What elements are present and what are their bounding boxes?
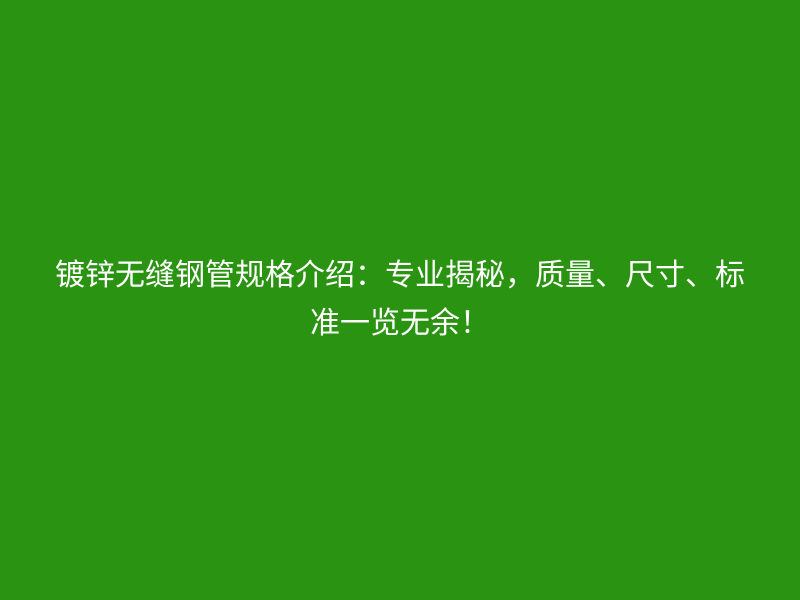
banner-container: 镀锌无缝钢管规格介绍：专业揭秘，质量、尺寸、标准一览无余！ — [0, 0, 800, 600]
banner-title: 镀锌无缝钢管规格介绍：专业揭秘，质量、尺寸、标准一览无余！ — [44, 252, 756, 348]
